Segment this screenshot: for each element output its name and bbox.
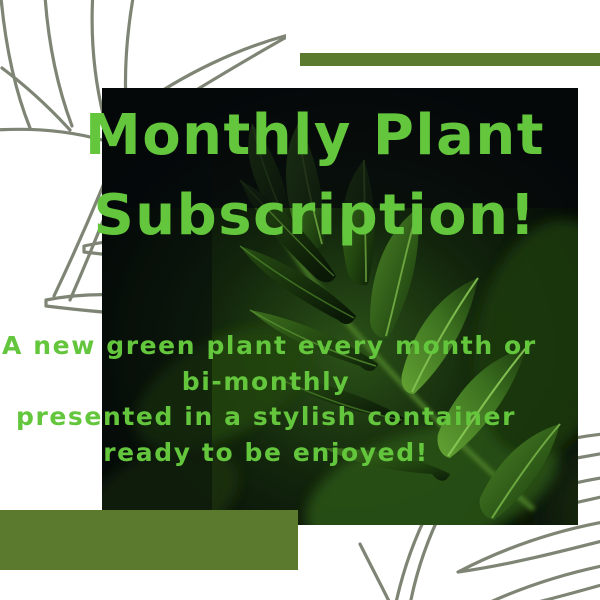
body-line-2: bi-monthly	[2, 364, 530, 400]
body-line-1: A new green plant every month or	[2, 328, 530, 364]
body-line-3: presented in a stylish container	[2, 399, 530, 435]
headline-line-2: Subscription!	[60, 176, 570, 256]
poster-canvas: Monthly Plant Subscription! A new green …	[0, 0, 600, 600]
page-title: Monthly Plant Subscription!	[60, 96, 570, 255]
olive-bar-bottom-left-overlap	[102, 510, 298, 525]
headline-line-1: Monthly Plant	[60, 96, 570, 176]
body-copy: A new green plant every month or bi-mont…	[2, 328, 530, 470]
body-line-4: ready to be enjoyed!	[2, 435, 530, 471]
olive-bar-top-right	[300, 53, 600, 66]
